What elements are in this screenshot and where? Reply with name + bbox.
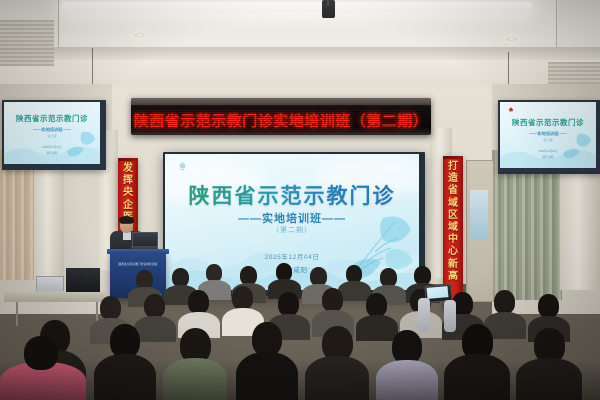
downlight-icon (506, 37, 517, 41)
screen-title: 陕西省示范示教门诊 (165, 180, 419, 210)
monitor-right-location: 陕西·咸阳 (500, 155, 596, 159)
monitor-right-date: 2025年12月04日 (500, 149, 596, 153)
audience-head (366, 293, 387, 317)
monitor-left-title: 陕西省示范示教门诊 (4, 113, 100, 124)
led-scanline-overlay (131, 107, 431, 133)
photographer-arm (418, 298, 430, 332)
side-monitor-left: 陕西省示范示教门诊 ——实地培训班—— （第二期） 2025年12月04日 陕西… (4, 102, 100, 164)
led-banner: 陕西省示范示教门诊实地培训班（第二期） (131, 98, 431, 135)
banner-right-char: 造 (448, 173, 458, 185)
ceiling-light-strip (62, 2, 532, 13)
screen-edition: （第二期） (165, 225, 419, 235)
banner-left-char: 挥 (123, 175, 133, 187)
banner-left-char: 企 (123, 200, 133, 212)
banner-right-char: 中 (448, 234, 458, 246)
audience-head (392, 330, 422, 364)
monitor-logo-icon (506, 106, 516, 116)
banner-right-char: 域 (448, 198, 458, 210)
side-monitor-right: 陕西省示范示教门诊 ——实地培训班—— （第二期） 2025年12月04日 陕西… (500, 102, 596, 168)
monitor-left-subtitle: ——实地培训班—— (4, 127, 100, 133)
audience-head (144, 294, 165, 318)
monitor-right-title: 陕西省示范示教门诊 (500, 117, 596, 128)
foreground-shadow (0, 360, 600, 400)
audience-head (278, 292, 299, 316)
audience-head (322, 288, 343, 312)
monitor-left-date: 2025年12月04日 (4, 145, 100, 149)
banner-right-char: 打 (448, 161, 458, 173)
hanging-wire (92, 48, 93, 86)
monitor-left-location: 陕西·咸阳 (4, 151, 100, 155)
banner-right-char: 区 (448, 210, 458, 222)
audience (0, 262, 600, 400)
audience-shoulders (356, 315, 398, 341)
ceiling-lip (0, 47, 600, 60)
audience-head (494, 290, 515, 314)
led-banner-rail (131, 98, 431, 105)
audience-shoulders (134, 316, 176, 342)
monitor-right-edition: （第二期） (500, 138, 596, 142)
screen-logo-icon (175, 160, 190, 175)
downlight-icon (134, 33, 145, 37)
audience-head (110, 324, 140, 358)
banner-right-char: 省 (448, 185, 458, 197)
projector-mount-rod (327, 0, 329, 6)
audience-head (232, 286, 253, 310)
phone-screen (427, 286, 449, 299)
audience-head (100, 296, 121, 320)
banner-left-char: 发 (123, 163, 133, 175)
monitor-left-edition: （第二期） (4, 134, 100, 138)
photographer-arm (444, 300, 456, 332)
banner-left-char: 央 (123, 187, 133, 199)
conference-hall-photo: 陕西省示范示教门诊实地培训班（第二期） 陕西省示范示教门 (0, 0, 600, 400)
door-window (470, 190, 488, 240)
ceiling-vent (548, 62, 600, 84)
banner-right-char: 心 (448, 246, 458, 258)
audience-head (538, 294, 559, 318)
banner-left-trim (118, 158, 138, 161)
screen-date: 2025年12月04日 (165, 251, 419, 261)
audience-head (188, 290, 209, 314)
ceiling-vent (0, 20, 54, 66)
hanging-wire (508, 52, 509, 88)
speaker-glasses (121, 223, 132, 227)
banner-right-trim (443, 156, 463, 159)
speaker-shirt (123, 232, 131, 240)
monitor-right-subtitle: ——实地培训班—— (500, 131, 596, 137)
screen-subtitle: ——实地培训班—— (165, 210, 419, 226)
banner-right-char: 域 (448, 222, 458, 234)
ceiling-lip-lower (0, 60, 600, 84)
audience-head (252, 322, 282, 356)
